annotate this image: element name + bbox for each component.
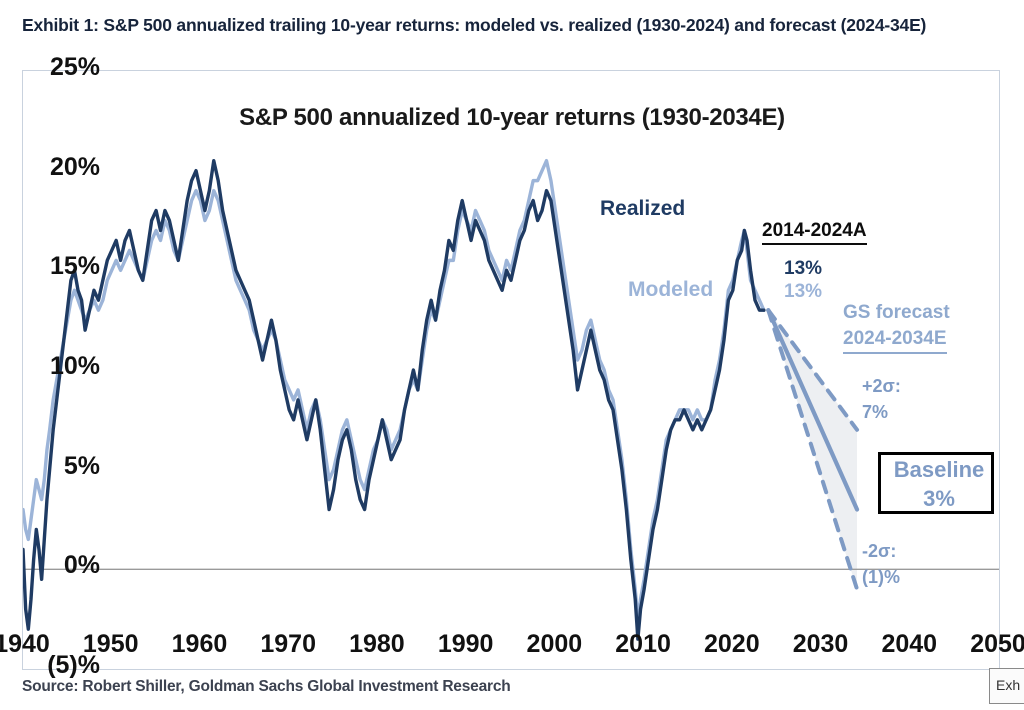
annotation-baseline: Baseline 3% <box>880 455 998 513</box>
gs-forecast-line2: 2024-2034E <box>843 326 947 354</box>
annotation-gs-forecast: GS forecast 2024-2034E <box>843 300 950 354</box>
gs-forecast-line1: GS forecast <box>843 300 950 326</box>
baseline-value: 3% <box>880 484 998 513</box>
chart-series-group <box>23 161 857 639</box>
y-axis-ticks: 25%20%15%10%5%0%(5)% <box>0 0 100 710</box>
y-tick-2: 15% <box>8 252 100 281</box>
annotation-minus-2-sigma: -2σ: (1)% <box>862 538 900 590</box>
annotation-modeled-value: 13% <box>784 281 822 303</box>
exhibit-title: Exhibit 1: S&P 500 annualized trailing 1… <box>22 12 982 38</box>
plus-2-sigma-value: 7% <box>862 399 901 425</box>
series-label-modeled: Modeled <box>628 278 713 302</box>
x-axis-ticks: 1940195019601970198019902000201020202030… <box>0 630 1024 670</box>
annotation-plus-2-sigma: +2σ: 7% <box>862 373 901 425</box>
chart-frame <box>22 70 1000 670</box>
baseline-label: Baseline <box>880 455 998 484</box>
source-note: Source: Robert Shiller, Goldman Sachs Gl… <box>22 678 511 696</box>
x-tick-11: 2050 <box>943 630 1024 659</box>
y-tick-4: 5% <box>8 452 100 481</box>
annotation-realized-value: 13% <box>784 258 822 280</box>
y-tick-3: 10% <box>8 352 100 381</box>
y-tick-0: 25% <box>8 53 100 82</box>
plus-2-sigma-label: +2σ: <box>862 373 901 399</box>
corner-tooltip[interactable]: Exh <box>989 668 1024 704</box>
minus-2-sigma-value: (1)% <box>862 564 900 590</box>
minus-2-sigma-label: -2σ: <box>862 538 900 564</box>
annotation-period-actual: 2014-2024A <box>762 220 867 245</box>
chart-plot-svg <box>23 71 999 669</box>
chart-inner-title: S&P 500 annualized 10-year returns (1930… <box>232 104 792 132</box>
y-tick-5: 0% <box>8 551 100 580</box>
y-tick-1: 20% <box>8 153 100 182</box>
series-label-realized: Realized <box>600 197 685 221</box>
